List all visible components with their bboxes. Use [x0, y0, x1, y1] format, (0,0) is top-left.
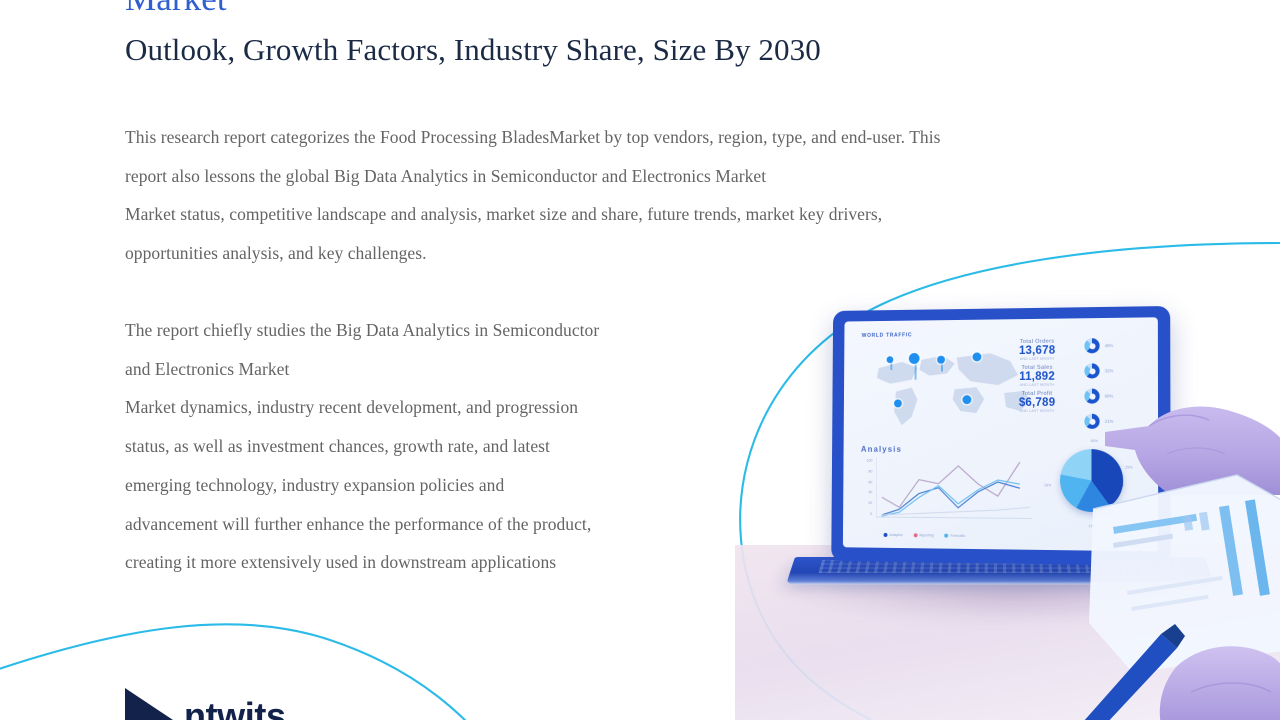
axis-tick: 40	[861, 491, 873, 495]
legend-item: Analytics	[884, 533, 903, 537]
pie-label: 18%	[1044, 483, 1051, 487]
triangle-arrow-icon	[123, 686, 175, 720]
slide-canvas: Market Outlook, Growth Factors, Industry…	[0, 0, 1280, 720]
donut-chart-icon	[1084, 389, 1099, 404]
page-title: Market	[125, 0, 1135, 20]
legend-label: Forecasts	[950, 534, 965, 538]
donut-chart-icon	[1084, 414, 1099, 429]
legend-item: Forecasts	[944, 534, 965, 538]
axis-tick: 20	[861, 501, 873, 505]
paragraph-line: creating it more extensively used in dow…	[125, 543, 750, 582]
legend-color-swatch	[884, 533, 888, 537]
donut-tag: 32%	[1105, 368, 1114, 373]
paragraph-line: Market dynamics, industry recent develop…	[125, 388, 750, 427]
legend-item: Reporting	[913, 533, 933, 537]
paragraph-line: report also lessons the global Big Data …	[125, 157, 1180, 196]
map-dot[interactable]	[962, 395, 971, 404]
pie-label: 45%	[1090, 439, 1097, 443]
stat-sub: AND LAST MONTH	[996, 356, 1078, 361]
paragraph-two: The report chiefly studies the Big Data …	[125, 311, 750, 582]
brand-logo[interactable]: ntwits	[123, 686, 286, 720]
map-dot[interactable]	[909, 353, 920, 364]
donut-tag: 45%	[1105, 343, 1114, 348]
map-pin	[915, 362, 917, 380]
donut-chart-icon	[1084, 363, 1099, 378]
stat-value: 11,892	[996, 371, 1078, 384]
donut-gauge-row[interactable]: 32%	[1084, 363, 1143, 379]
stat-value: 13,678	[996, 344, 1078, 357]
legend-label: Reporting	[919, 533, 933, 537]
paragraph-line: Market status, competitive landscape and…	[125, 195, 1180, 234]
analysis-y-axis: 100 80 60 40 20 0	[860, 459, 872, 516]
paragraph-line: opportunities analysis, and key challeng…	[125, 234, 1180, 273]
map-pin	[890, 362, 891, 370]
page-subtitle: Outlook, Growth Factors, Industry Share,…	[125, 30, 1135, 70]
heading-group: Market Outlook, Growth Factors, Industry…	[125, 0, 1135, 70]
map-dot[interactable]	[894, 399, 902, 407]
world-traffic-label: WORLD TRAFFIC	[862, 332, 913, 338]
axis-tick: 80	[861, 469, 873, 473]
donut-chart-icon	[1084, 338, 1099, 353]
legend-color-swatch	[913, 533, 917, 537]
legend-color-swatch	[944, 534, 948, 538]
analysis-chart-legend: Analytics Reporting Forecasts	[884, 533, 966, 538]
analysis-chart-title: Analysis	[861, 445, 1038, 454]
axis-tick: 100	[861, 459, 873, 463]
paragraph-line: advancement will further enhance the per…	[125, 505, 750, 544]
hero-photo: WORLD TRAFFIC	[735, 245, 1280, 720]
axis-tick: 60	[861, 480, 873, 484]
paragraph-line: and Electronics Market	[125, 350, 750, 389]
hand-holding-pen	[1065, 600, 1280, 720]
paragraph-line: The report chiefly studies the Big Data …	[125, 311, 750, 350]
analysis-chart: Analysis 100 80 60 40 20 0	[860, 445, 1038, 538]
map-dot[interactable]	[972, 352, 981, 361]
stat-sub: AND LAST MONTH	[996, 383, 1078, 387]
axis-tick: 0	[860, 512, 872, 516]
paragraph-line: status, as well as investment chances, g…	[125, 427, 750, 466]
paragraph-line: This research report categorizes the Foo…	[125, 118, 1180, 157]
stat-sub: AND LAST MONTH	[996, 409, 1078, 413]
stat-value: $6,789	[996, 397, 1078, 409]
donut-gauge-row[interactable]: 45%	[1084, 338, 1143, 354]
analysis-chart-plot	[876, 458, 1034, 521]
paragraph-one: This research report categorizes the Foo…	[125, 118, 1180, 273]
map-dot[interactable]	[937, 356, 945, 364]
stat-group: Total Orders 13,678 AND LAST MONTH Total…	[996, 334, 1078, 413]
legend-label: Analytics	[889, 533, 902, 537]
paragraph-line: emerging technology, industry expansion …	[125, 466, 750, 505]
brand-logo-text: ntwits	[184, 703, 286, 720]
